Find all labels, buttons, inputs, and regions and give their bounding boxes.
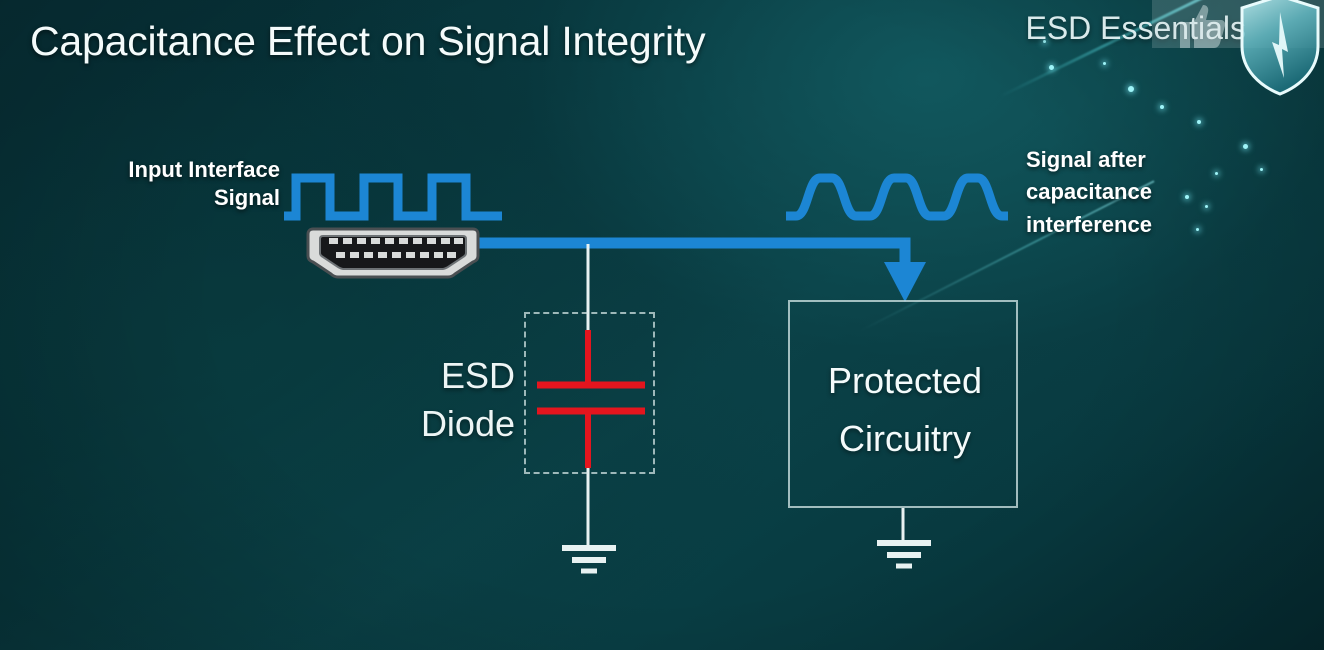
ground-symbol-icon xyxy=(877,543,931,566)
spark-dot-icon xyxy=(1128,86,1134,92)
spark-dot-icon xyxy=(1049,65,1054,70)
spark-dot-icon xyxy=(1160,105,1164,109)
esd-diode-enclosure xyxy=(524,312,655,474)
esd-diode-label-line2: Diode xyxy=(340,400,515,448)
input-square-wave-icon xyxy=(280,162,510,226)
output-signal-label-line2: capacitance xyxy=(1026,176,1276,208)
spark-dot-icon xyxy=(1103,62,1106,65)
signal-arrow-icon xyxy=(472,243,926,302)
hdmi-connector-icon xyxy=(305,226,481,280)
slide-canvas: Capacitance Effect on Signal Integrity E… xyxy=(0,0,1324,650)
esd-diode-label-line1: ESD xyxy=(340,352,515,400)
circuit-diagram xyxy=(0,0,1324,650)
background-vignette xyxy=(0,0,1324,650)
input-signal-label-line2: Signal xyxy=(60,184,280,212)
spark-dot-icon xyxy=(1197,120,1201,124)
page-title: Capacitance Effect on Signal Integrity xyxy=(30,18,705,65)
input-signal-label: Input Interface Signal xyxy=(60,156,280,212)
shield-icon xyxy=(1238,0,1322,98)
output-rounded-wave-icon xyxy=(782,162,1012,226)
protected-circuitry-label-line2: Circuitry xyxy=(790,410,1020,468)
ground-symbol-icon xyxy=(562,548,616,571)
protected-circuitry-label-line1: Protected xyxy=(790,352,1020,410)
brand-label: ESD Essentials xyxy=(1025,10,1246,47)
esd-diode-label: ESD Diode xyxy=(340,352,515,447)
input-signal-label-line1: Input Interface xyxy=(60,156,280,184)
output-signal-label-line1: Signal after xyxy=(1026,144,1276,176)
protected-circuitry-label: Protected Circuitry xyxy=(790,352,1020,467)
output-signal-label: Signal after capacitance interference xyxy=(1026,144,1276,241)
output-signal-label-line3: interference xyxy=(1026,209,1276,241)
